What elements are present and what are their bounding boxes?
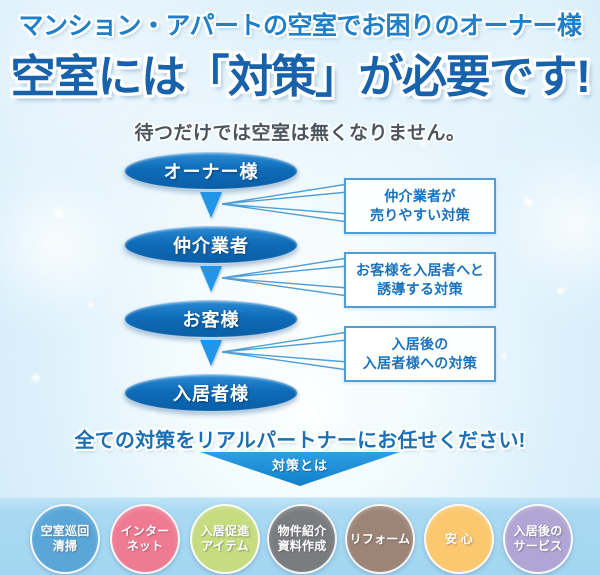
service-label-line-2: ネット (127, 539, 164, 554)
service-label-line-2: 清掃 (53, 539, 77, 554)
service-label-line-2: サービス (514, 539, 563, 554)
callout-customer-measure: お客様を入居者へと 誘導する対策 (344, 252, 496, 308)
service-label-line-1: リフォーム (350, 532, 411, 547)
service-circle-peace-of-mind[interactable]: 安 心 (424, 504, 494, 574)
sparkle-dot (30, 372, 42, 384)
sparkle-dot (86, 300, 95, 309)
flow-arrow-down (200, 340, 222, 366)
callout-tenant-measure: 入居後の 入居者様への対策 (344, 326, 496, 382)
headline-subline: マンション・アパートの空室でお困りのオーナー様 (0, 6, 600, 42)
service-label-line-1: 入居後の (514, 524, 563, 539)
service-circle-internet[interactable]: インター ネット (110, 504, 180, 574)
service-label-line-1: 空室巡回 (41, 524, 90, 539)
service-label-line-1: インター (121, 524, 170, 539)
callout-line-1: お客様を入居者へと (356, 261, 484, 280)
sparkle-dot (500, 352, 508, 360)
service-label-line-1: 安 心 (445, 532, 473, 547)
callout-broker-measure: 仲介業者が 売りやすい対策 (344, 178, 496, 234)
callout-connector (222, 178, 348, 228)
sparkle-dot (150, 410, 157, 417)
sparkle-dot (52, 206, 66, 220)
service-circle-after-move-in[interactable]: 入居後の サービス (503, 504, 573, 574)
callout-line-1: 仲介業者が (384, 187, 456, 206)
flow-arrow-down (200, 192, 222, 218)
service-circle-move-in-items[interactable]: 入居促進 アイテム (190, 504, 260, 574)
service-label-line-2: 資料作成 (278, 539, 327, 554)
flow-arrow-down (200, 266, 222, 292)
service-label-line-2: アイテム (201, 539, 249, 554)
sparkle-dot (522, 196, 535, 209)
callout-line-2: 誘導する対策 (377, 280, 463, 299)
service-label-line-1: 物件紹介 (278, 524, 327, 539)
service-circle-reform[interactable]: リフォーム (345, 504, 415, 574)
headline-main: 空室には「対策」が必要です! (0, 40, 600, 105)
service-label-line-1: 入居促進 (201, 524, 250, 539)
callout-line-2: 入居者様への対策 (363, 354, 477, 373)
callout-connector (222, 326, 348, 376)
sparkle-dot (556, 286, 566, 296)
callout-connector (222, 252, 348, 302)
flow-step-tenant: 入居者様 (124, 374, 298, 412)
cta-text: 全ての対策をリアルパートナーにお任せください! (0, 424, 600, 453)
flow-step-label: 入居者様 (173, 380, 249, 406)
lead-subtitle: 待つだけでは空室は無くなりません。 (0, 118, 600, 145)
sparkle-dot (316, 404, 325, 413)
service-circle-cleaning[interactable]: 空室巡回 清掃 (30, 504, 100, 574)
callout-line-1: 入居後の (391, 335, 448, 354)
service-band: 空室巡回 清掃 インター ネット 入居促進 アイテム 物件紹介 資料作成 リフォ… (0, 497, 600, 575)
measures-banner: 対策とは (200, 452, 400, 486)
callout-line-2: 売りやすい対策 (370, 206, 470, 225)
promotional-banner: マンション・アパートの空室でお困りのオーナー様 空室には「対策」が必要です! 待… (0, 0, 600, 575)
measures-banner-label: 対策とは (272, 455, 328, 474)
service-circle-property-materials[interactable]: 物件紹介 資料作成 (267, 504, 337, 574)
